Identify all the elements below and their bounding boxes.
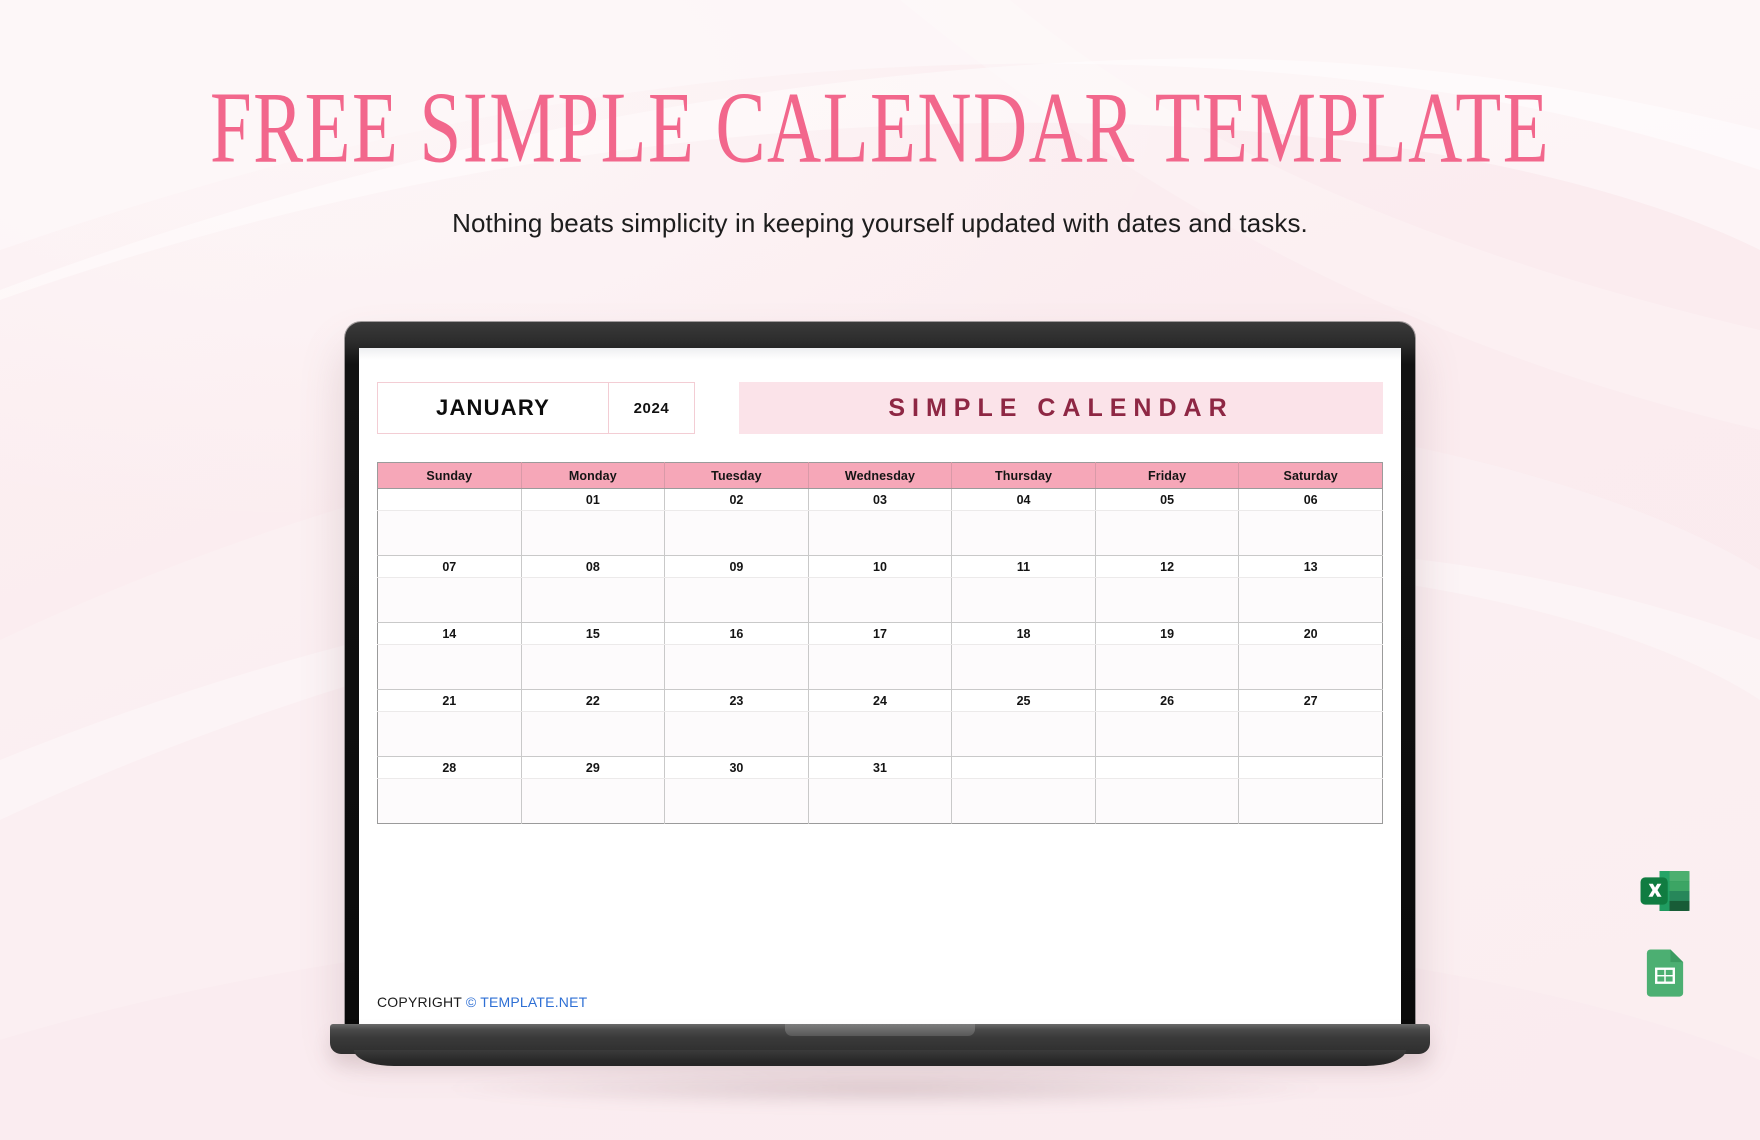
date-cell[interactable]: 01 <box>521 489 665 511</box>
date-cell[interactable]: 17 <box>808 623 952 645</box>
laptop-lid: JANUARY 2024 SIMPLE CALENDAR Sunday <box>345 322 1415 1028</box>
note-cell[interactable] <box>521 645 665 690</box>
laptop-shadow <box>450 1067 1320 1109</box>
weekday-header-friday: Friday <box>1095 463 1239 489</box>
date-cell[interactable]: 30 <box>665 757 809 779</box>
google-sheets-icon[interactable] <box>1636 944 1694 1002</box>
date-cell[interactable]: 24 <box>808 690 952 712</box>
weekday-header-monday: Monday <box>521 463 665 489</box>
date-cell[interactable] <box>378 489 522 511</box>
note-cell[interactable] <box>665 712 809 757</box>
date-cell[interactable]: 21 <box>378 690 522 712</box>
date-cell[interactable] <box>1239 757 1383 779</box>
month-cell[interactable]: JANUARY <box>377 382 609 434</box>
note-cell[interactable] <box>952 712 1096 757</box>
note-cell[interactable] <box>378 511 522 556</box>
date-cell[interactable]: 22 <box>521 690 665 712</box>
weekday-header-wednesday: Wednesday <box>808 463 952 489</box>
copyright-prefix: COPYRIGHT <box>377 994 466 1010</box>
weekday-header-thursday: Thursday <box>952 463 1096 489</box>
weekday-header-tuesday: Tuesday <box>665 463 809 489</box>
note-cell[interactable] <box>952 511 1096 556</box>
date-cell[interactable] <box>952 757 1096 779</box>
laptop-mockup: JANUARY 2024 SIMPLE CALENDAR Sunday <box>330 322 1430 1077</box>
weekday-header-sunday: Sunday <box>378 463 522 489</box>
template-net-link[interactable]: © TEMPLATE.NET <box>466 994 588 1010</box>
date-cell[interactable]: 08 <box>521 556 665 578</box>
note-cell[interactable] <box>521 578 665 623</box>
note-cell[interactable] <box>378 712 522 757</box>
date-cell[interactable]: 03 <box>808 489 952 511</box>
note-cell[interactable] <box>1239 645 1383 690</box>
month-label: JANUARY <box>436 395 550 421</box>
date-cell[interactable] <box>1095 757 1239 779</box>
date-cell[interactable]: 16 <box>665 623 809 645</box>
table-row <box>378 511 1383 556</box>
format-icons-group <box>1636 862 1694 1002</box>
table-row: 28 29 30 31 <box>378 757 1383 779</box>
table-row <box>378 578 1383 623</box>
date-cell[interactable]: 06 <box>1239 489 1383 511</box>
table-row: 21 22 23 24 25 26 27 <box>378 690 1383 712</box>
note-cell[interactable] <box>1239 511 1383 556</box>
note-cell[interactable] <box>521 712 665 757</box>
weekday-header-saturday: Saturday <box>1239 463 1383 489</box>
note-cell[interactable] <box>808 578 952 623</box>
date-cell[interactable]: 23 <box>665 690 809 712</box>
date-cell[interactable]: 02 <box>665 489 809 511</box>
copyright-notice: COPYRIGHT © TEMPLATE.NET <box>377 994 587 1010</box>
note-cell[interactable] <box>378 578 522 623</box>
date-cell[interactable]: 20 <box>1239 623 1383 645</box>
note-cell[interactable] <box>808 645 952 690</box>
date-cell[interactable]: 09 <box>665 556 809 578</box>
title-spacer <box>695 382 739 434</box>
date-cell[interactable]: 25 <box>952 690 1096 712</box>
note-cell[interactable] <box>378 779 522 824</box>
date-cell[interactable]: 18 <box>952 623 1096 645</box>
screen-top-shade <box>359 348 1401 360</box>
table-row: 14 15 16 17 18 19 20 <box>378 623 1383 645</box>
note-cell[interactable] <box>1239 779 1383 824</box>
date-cell[interactable]: 26 <box>1095 690 1239 712</box>
note-cell[interactable] <box>665 645 809 690</box>
year-label: 2024 <box>634 400 670 417</box>
note-cell[interactable] <box>808 712 952 757</box>
note-cell[interactable] <box>1095 578 1239 623</box>
date-cell[interactable]: 27 <box>1239 690 1383 712</box>
table-row: 07 08 09 10 11 12 13 <box>378 556 1383 578</box>
weekday-header-row: Sunday Monday Tuesday Wednesday Thursday… <box>378 463 1383 489</box>
date-cell[interactable]: 12 <box>1095 556 1239 578</box>
year-cell[interactable]: 2024 <box>609 382 695 434</box>
note-cell[interactable] <box>952 578 1096 623</box>
page-title: FREE SIMPLE CALENDAR TEMPLATE <box>0 78 1760 179</box>
date-cell[interactable]: 13 <box>1239 556 1383 578</box>
note-cell[interactable] <box>1095 511 1239 556</box>
page-subtitle: Nothing beats simplicity in keeping your… <box>0 208 1760 239</box>
note-cell[interactable] <box>665 779 809 824</box>
date-cell[interactable]: 14 <box>378 623 522 645</box>
table-row <box>378 779 1383 824</box>
date-cell[interactable]: 31 <box>808 757 952 779</box>
note-cell[interactable] <box>1095 712 1239 757</box>
note-cell[interactable] <box>952 779 1096 824</box>
note-cell[interactable] <box>808 511 952 556</box>
table-row <box>378 645 1383 690</box>
date-cell[interactable]: 05 <box>1095 489 1239 511</box>
calendar-body: 01 02 03 04 05 06 <box>378 489 1383 824</box>
note-cell[interactable] <box>521 779 665 824</box>
table-row: 01 02 03 04 05 06 <box>378 489 1383 511</box>
calendar-table: Sunday Monday Tuesday Wednesday Thursday… <box>377 462 1383 824</box>
excel-icon[interactable] <box>1636 862 1694 920</box>
note-cell[interactable] <box>1095 779 1239 824</box>
note-cell[interactable] <box>665 511 809 556</box>
date-cell[interactable]: 28 <box>378 757 522 779</box>
laptop-base-lip <box>354 1050 1406 1066</box>
spreadsheet-canvas: JANUARY 2024 SIMPLE CALENDAR Sunday <box>359 360 1401 1028</box>
date-cell[interactable]: 29 <box>521 757 665 779</box>
note-cell[interactable] <box>1095 645 1239 690</box>
banner-title: SIMPLE CALENDAR <box>888 394 1233 423</box>
calendar-title-row: JANUARY 2024 SIMPLE CALENDAR <box>377 382 1383 434</box>
note-cell[interactable] <box>952 645 1096 690</box>
note-cell[interactable] <box>808 779 952 824</box>
table-row <box>378 712 1383 757</box>
note-cell[interactable] <box>378 645 522 690</box>
note-cell[interactable] <box>1239 578 1383 623</box>
date-cell[interactable]: 19 <box>1095 623 1239 645</box>
note-cell[interactable] <box>665 578 809 623</box>
date-cell[interactable]: 04 <box>952 489 1096 511</box>
date-cell[interactable]: 10 <box>808 556 952 578</box>
date-cell[interactable]: 11 <box>952 556 1096 578</box>
laptop-screen: JANUARY 2024 SIMPLE CALENDAR Sunday <box>359 348 1401 1028</box>
note-cell[interactable] <box>1239 712 1383 757</box>
date-cell[interactable]: 15 <box>521 623 665 645</box>
date-cell[interactable]: 07 <box>378 556 522 578</box>
calendar-banner: SIMPLE CALENDAR <box>739 382 1383 434</box>
note-cell[interactable] <box>521 511 665 556</box>
